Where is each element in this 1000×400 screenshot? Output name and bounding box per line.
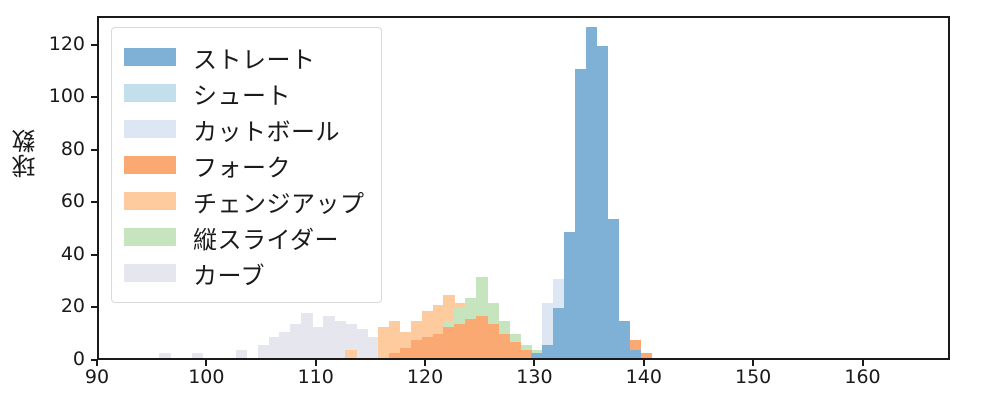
- y-tick-label: 60: [61, 190, 85, 212]
- legend[interactable]: ストレートシュートカットボールフォークチェンジアップ縦スライダーカーブ: [111, 27, 382, 303]
- y-tick-label: 0: [73, 348, 85, 370]
- legend-swatch-icon: [124, 192, 176, 210]
- histogram-bar: [378, 327, 390, 359]
- legend-swatch-icon: [124, 84, 176, 102]
- x-tick-mark: [533, 360, 535, 366]
- x-tick-label: 130: [516, 366, 552, 388]
- histogram-bar: [465, 319, 477, 358]
- y-tick-mark: [91, 254, 97, 256]
- histogram-bar: [443, 327, 455, 359]
- x-tick-label: 160: [844, 366, 880, 388]
- histogram-bar: [389, 353, 401, 358]
- y-tick-mark: [91, 44, 97, 46]
- histogram-bar: [597, 46, 609, 358]
- legend-swatch-icon: [124, 264, 176, 282]
- legend-swatch-icon: [124, 48, 176, 66]
- y-tick-mark: [91, 306, 97, 308]
- x-tick-mark: [643, 360, 645, 366]
- x-tick-label: 120: [407, 366, 443, 388]
- histogram-bar: [564, 232, 576, 358]
- legend-label: ストレート: [193, 40, 316, 75]
- histogram-bar: [290, 324, 302, 358]
- x-tick-mark: [205, 360, 207, 366]
- histogram-bar: [531, 353, 543, 358]
- histogram-bar: [356, 329, 368, 358]
- y-tick-label: 40: [61, 243, 85, 265]
- y-tick-label: 80: [61, 138, 85, 160]
- x-tick-mark: [862, 360, 864, 366]
- histogram-bar: [498, 334, 510, 358]
- x-tick-label: 90: [85, 366, 109, 388]
- y-tick-mark: [91, 96, 97, 98]
- histogram-bar: [301, 313, 313, 358]
- x-tick-mark: [96, 360, 98, 366]
- legend-item-4[interactable]: チェンジアップ: [124, 183, 365, 219]
- x-tick-label: 110: [298, 366, 334, 388]
- histogram-bar: [411, 340, 423, 358]
- histogram-bar: [422, 337, 434, 358]
- legend-label: シュート: [193, 76, 291, 111]
- histogram-bar: [367, 337, 379, 358]
- x-tick-label: 140: [626, 366, 662, 388]
- legend-item-0[interactable]: ストレート: [124, 39, 365, 75]
- histogram-bar: [553, 308, 565, 358]
- histogram-figure: 球数 ストレートシュートカットボールフォークチェンジアップ縦スライダーカーブ 0…: [0, 0, 1000, 400]
- legend-label: フォーク: [193, 148, 291, 183]
- legend-item-2[interactable]: カットボール: [124, 111, 365, 147]
- legend-swatch-icon: [124, 156, 176, 174]
- legend-label: チェンジアップ: [193, 184, 365, 219]
- histogram-bar: [312, 327, 324, 359]
- histogram-bar: [269, 337, 281, 358]
- legend-item-5[interactable]: 縦スライダー: [124, 219, 365, 255]
- x-tick-mark: [315, 360, 317, 366]
- histogram-bar: [640, 353, 652, 358]
- legend-label: 縦スライダー: [193, 220, 339, 255]
- histogram-bar: [629, 350, 641, 358]
- y-axis-label: 球数: [8, 128, 43, 178]
- histogram-bar: [487, 324, 499, 358]
- y-tick-label: 20: [61, 295, 85, 317]
- histogram-bar: [608, 219, 620, 358]
- histogram-bar: [400, 348, 412, 359]
- legend-swatch-icon: [124, 120, 176, 138]
- legend-item-3[interactable]: フォーク: [124, 147, 365, 183]
- histogram-bar: [520, 350, 532, 358]
- histogram-bar: [454, 324, 466, 358]
- histogram-bar: [575, 69, 587, 358]
- histogram-bar: [159, 353, 171, 358]
- histogram-bar: [345, 350, 357, 358]
- x-tick-mark: [424, 360, 426, 366]
- histogram-bar: [618, 321, 630, 358]
- x-tick-label: 100: [188, 366, 224, 388]
- histogram-bar: [433, 334, 445, 358]
- x-tick-mark: [752, 360, 754, 366]
- legend-item-6[interactable]: カーブ: [124, 255, 365, 291]
- histogram-bar: [334, 321, 346, 358]
- histogram-bar: [258, 345, 270, 358]
- y-tick-mark: [91, 201, 97, 203]
- histogram-bar: [236, 350, 248, 358]
- histogram-bar: [279, 332, 291, 358]
- y-tick-label: 100: [49, 85, 85, 107]
- legend-label: カーブ: [193, 256, 265, 291]
- histogram-bar: [476, 316, 488, 358]
- histogram-bar: [192, 353, 204, 358]
- y-tick-mark: [91, 149, 97, 151]
- x-tick-label: 150: [735, 366, 771, 388]
- histogram-bar: [586, 27, 598, 358]
- histogram-bar: [542, 345, 554, 358]
- legend-swatch-icon: [124, 228, 176, 246]
- histogram-bar: [323, 316, 335, 358]
- y-tick-label: 120: [49, 33, 85, 55]
- legend-label: カットボール: [193, 112, 340, 147]
- histogram-bar: [509, 342, 521, 358]
- legend-item-1[interactable]: シュート: [124, 75, 365, 111]
